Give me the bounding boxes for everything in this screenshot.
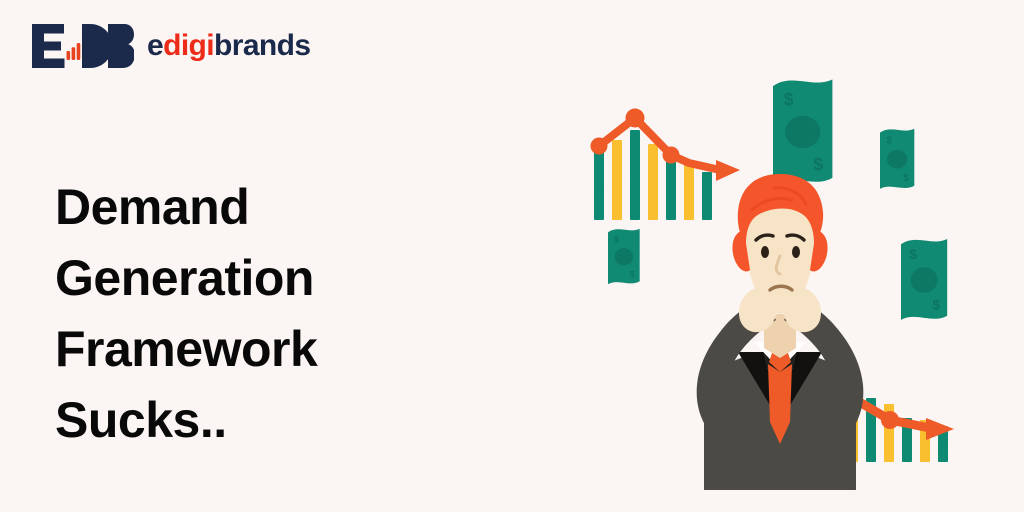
stressed-businessman	[697, 174, 864, 490]
eye-left	[761, 246, 769, 258]
banknote-right	[901, 239, 947, 320]
trend-arrow-head	[716, 160, 740, 181]
brand-wordmark: edigibrands	[147, 31, 310, 61]
banner-canvas: edigibrands Demand Generation Framework …	[0, 0, 1024, 512]
wordmark-part-digi: digi	[163, 29, 214, 62]
declining-bar-chart-top-left	[591, 109, 741, 221]
headline-line-4: Sucks..	[55, 385, 475, 456]
wordmark-part-brands: brands	[214, 29, 310, 62]
banknote-top-center	[773, 79, 832, 183]
banknote-upper-right	[880, 129, 914, 189]
headline-line-3: Framework	[55, 314, 475, 385]
wordmark-part-e: e	[147, 29, 163, 62]
page-title: Demand Generation Framework Sucks..	[55, 172, 475, 456]
edb-monogram-icon	[30, 22, 134, 70]
declining-bar-chart-bottom-right	[848, 398, 954, 462]
headline-line-1: Demand	[55, 172, 475, 243]
banknote-left	[608, 229, 640, 284]
headline-line-2: Generation	[55, 243, 475, 314]
brand-logo[interactable]: edigibrands	[30, 22, 310, 70]
stressed-businessman-illustration-svg: $ $	[568, 70, 988, 490]
hero-illustration: $ $	[568, 70, 988, 490]
eye-right	[792, 246, 800, 258]
